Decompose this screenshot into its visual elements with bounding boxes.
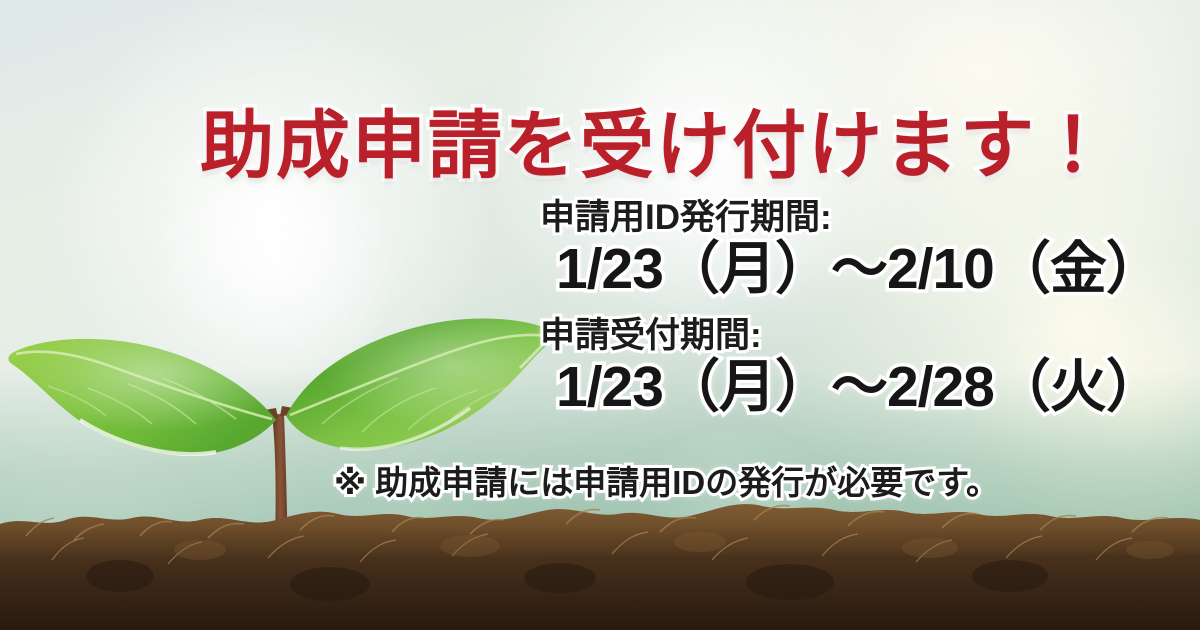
application-period-label: 申請受付期間: [540, 316, 1010, 355]
footnote: ※ 助成申請には申請用IDの発行が必要です。 [334, 456, 999, 504]
period-info-block: 申請用ID発行期間: 1/23（月）〜2/10（金） 申請受付期間: 1/23（… [540, 198, 1010, 420]
page-title: 助成申請を受け付けます！ [200, 86, 1112, 193]
promo-banner: 助成申請を受け付けます！ 申請用ID発行期間: 1/23（月）〜2/10（金） … [0, 0, 1200, 630]
id-issue-period-dates: 1/23（月）〜2/10（金） [556, 237, 1010, 302]
text-layer: 助成申請を受け付けます！ 申請用ID発行期間: 1/23（月）〜2/10（金） … [0, 0, 1200, 630]
id-issue-period-label: 申請用ID発行期間: [540, 198, 1010, 237]
period-group-id-issue: 申請用ID発行期間: 1/23（月）〜2/10（金） [540, 198, 1010, 302]
period-group-application: 申請受付期間: 1/23（月）〜2/28（火） [540, 316, 1010, 420]
application-period-dates: 1/23（月）〜2/28（火） [556, 355, 1010, 420]
